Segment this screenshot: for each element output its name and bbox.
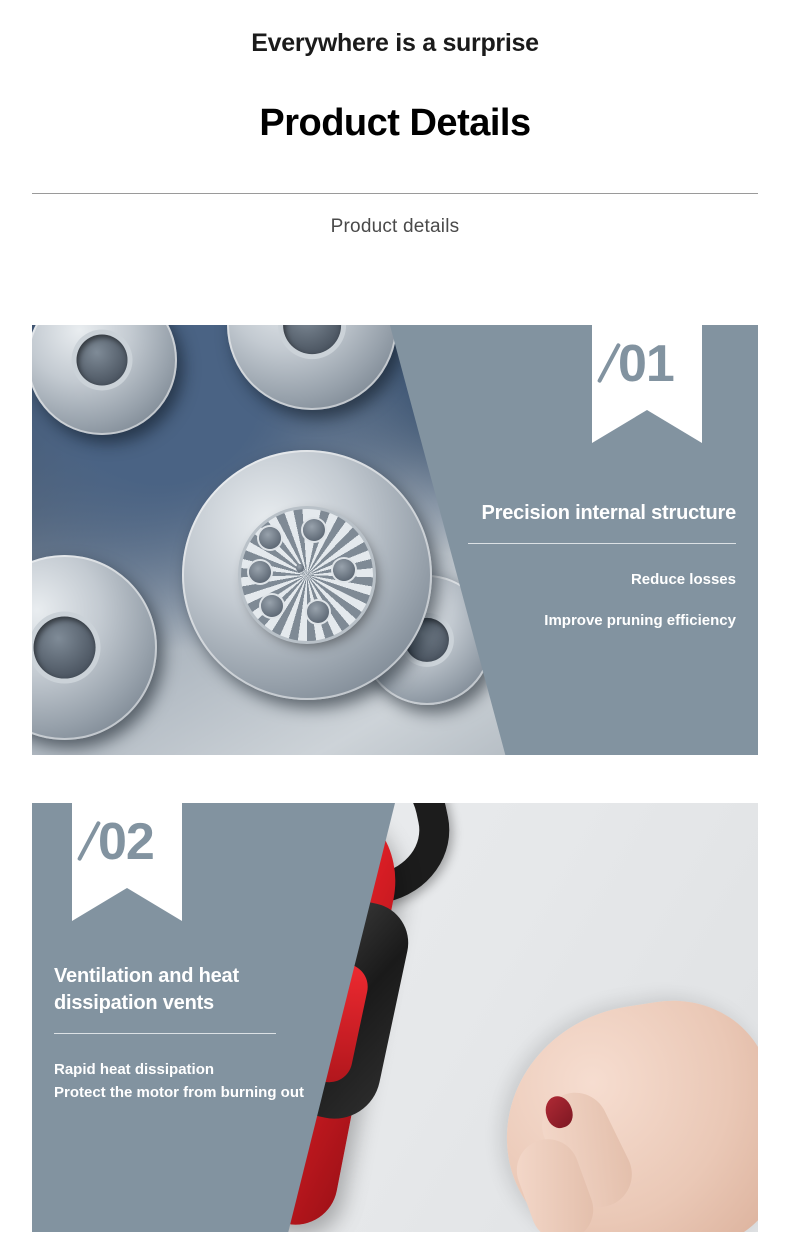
ribbon-inner: 02	[72, 815, 182, 877]
feature-02-number: 02	[98, 811, 154, 873]
eyebrow-text: Everywhere is a surprise	[0, 26, 790, 60]
page-header: Everywhere is a surprise Product Details…	[0, 0, 790, 238]
feature-02-bullet: Protect the motor from burning out	[54, 1083, 324, 1103]
feature-02-bullet: Rapid heat dissipation	[54, 1060, 324, 1080]
gear-hole	[261, 595, 283, 617]
feature-block-01: 01 Precision internal structure Reduce l…	[32, 325, 758, 755]
feature-02-title-rule	[54, 1033, 276, 1034]
feature-01-copy: Precision internal structure Reduce loss…	[406, 500, 736, 631]
ribbon-inner: 01	[592, 337, 702, 399]
feature-02-title: Ventilation and heat dissipation vents	[54, 963, 324, 1017]
feature-01-title: Precision internal structure	[406, 500, 736, 527]
feature-block-02: 02 Ventilation and heat dissipation vent…	[32, 803, 758, 1232]
gear-hole	[307, 601, 329, 623]
gear-hole	[259, 527, 281, 549]
header-divider	[32, 193, 758, 194]
page-title: Product Details	[0, 100, 790, 146]
header-divider-wrap	[0, 193, 790, 194]
feature-01-title-rule	[468, 543, 736, 544]
gear-center-pin	[296, 564, 304, 572]
feature-01-bullet: Improve pruning efficiency	[406, 611, 736, 631]
gear-hub-shape	[241, 509, 373, 641]
gear-hole	[333, 559, 355, 581]
feature-01-bullet: Reduce losses	[406, 570, 736, 590]
gear-hole	[303, 519, 325, 541]
gear-hole	[249, 561, 271, 583]
feature-02-copy: Ventilation and heat dissipation vents R…	[54, 963, 324, 1103]
section-subtitle: Product details	[0, 216, 790, 238]
feature-01-number: 01	[618, 333, 674, 395]
